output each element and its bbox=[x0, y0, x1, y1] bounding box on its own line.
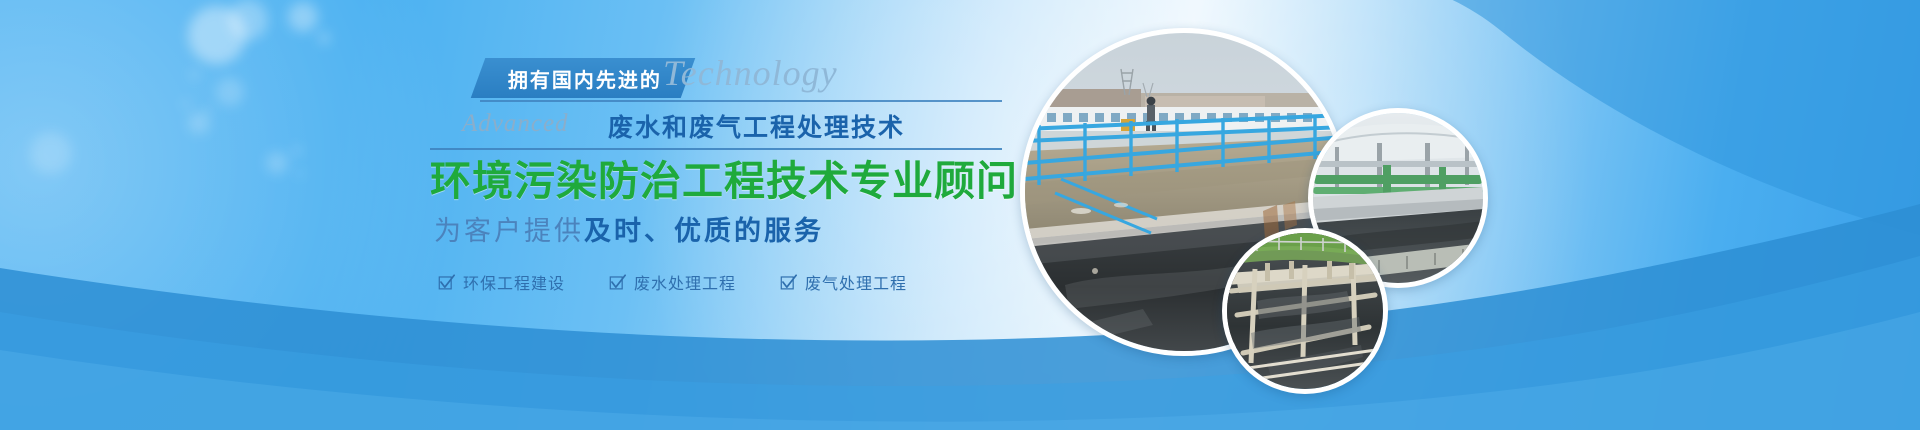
script-word-technology: Technology bbox=[663, 52, 838, 94]
tagline-light-part: 为客户提供 bbox=[434, 216, 584, 246]
list-item: 废水处理工程 bbox=[609, 270, 736, 294]
bokeh-circle bbox=[216, 78, 244, 106]
check-box-icon bbox=[609, 274, 626, 291]
bokeh-circle bbox=[318, 32, 330, 44]
bokeh-circle bbox=[188, 6, 246, 64]
bokeh-circle bbox=[182, 100, 190, 108]
check-box-icon bbox=[438, 274, 455, 291]
aeration-basin-photo bbox=[1222, 228, 1388, 394]
page-title: 环境污染防治工程技术专业顾问 bbox=[430, 158, 1050, 205]
feature-label: 环保工程建设 bbox=[463, 270, 565, 294]
advanced-tech-tag-label: 拥有国内先进的 bbox=[508, 64, 662, 93]
divider-line-mid bbox=[430, 148, 1002, 150]
bokeh-circle bbox=[190, 70, 199, 79]
feature-label: 废水处理工程 bbox=[634, 270, 736, 294]
bokeh-circle bbox=[296, 170, 303, 177]
headline-row-top: 拥有国内先进的 Technology bbox=[430, 56, 1050, 102]
script-word-advanced: Advanced bbox=[462, 110, 569, 138]
bokeh-circle bbox=[206, 106, 213, 113]
feature-list: 环保工程建设 废水处理工程 废气处理工程 bbox=[430, 270, 1050, 294]
bokeh-circle bbox=[188, 112, 210, 134]
bokeh-circle bbox=[266, 152, 288, 174]
tagline-bold-part: 及时、优质的服务 bbox=[584, 216, 824, 246]
promotional-banner: 拥有国内先进的 Technology Advanced 废水和废气工程处理技术 … bbox=[0, 0, 1920, 430]
headline-row-mid: Advanced 废水和废气工程处理技术 bbox=[430, 106, 1050, 150]
list-item: 环保工程建设 bbox=[438, 270, 565, 294]
bokeh-circle bbox=[292, 146, 302, 156]
bokeh-circle bbox=[228, 0, 268, 40]
list-item: 废气处理工程 bbox=[780, 270, 907, 294]
tagline: 为客户提供及时、优质的服务 bbox=[430, 209, 1050, 248]
check-box-icon bbox=[780, 274, 797, 291]
advanced-tech-tag: 拥有国内先进的 bbox=[471, 58, 696, 98]
bokeh-circle bbox=[30, 132, 72, 174]
divider-line-top bbox=[480, 100, 1002, 102]
bokeh-circle bbox=[288, 2, 318, 32]
banner-copy: 拥有国内先进的 Technology Advanced 废水和废气工程处理技术 … bbox=[430, 56, 1050, 294]
feature-label: 废气处理工程 bbox=[805, 270, 907, 294]
subtitle-chinese: 废水和废气工程处理技术 bbox=[608, 108, 905, 144]
